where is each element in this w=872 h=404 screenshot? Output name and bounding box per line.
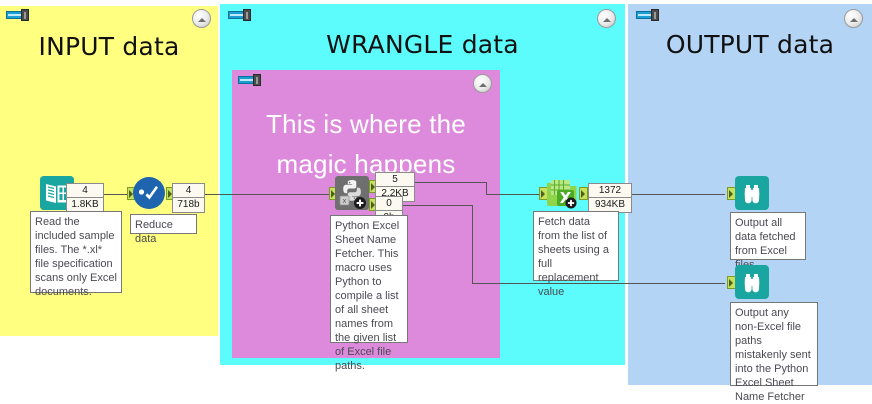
wire-excel-to-browse: [632, 194, 725, 195]
wire-python-top-h1: [415, 182, 486, 183]
comment-browse-all[interactable]: Output all data fetched from Excel files: [730, 212, 806, 260]
output-anchor[interactable]: [579, 187, 588, 200]
container-title-input: INPUT data: [0, 32, 218, 61]
toggle-icon[interactable]: [228, 9, 252, 21]
toggle-knob: [253, 74, 261, 86]
comment-input-data[interactable]: Read the included sample files. The *.xl…: [30, 211, 122, 293]
container-title-wrangle: WRANGLE data: [220, 30, 625, 59]
wire-python-bottom-h1: [403, 205, 472, 206]
record-badge-input-data: 4 1.8KB: [66, 183, 104, 213]
python-macro-icon[interactable]: x: [335, 176, 369, 210]
filter-check-icon[interactable]: [132, 176, 166, 210]
comment-browse-errors[interactable]: Output any non-Excel file paths mistaken…: [730, 302, 818, 386]
wire-python-bottom-v: [472, 205, 473, 283]
toggle-icon[interactable]: [238, 74, 262, 86]
record-badge-filter: 4 718b: [172, 183, 205, 213]
record-badge-dynamic-input: 1372 934KB: [588, 183, 632, 213]
excel-fetch-icon[interactable]: X: [545, 176, 579, 210]
container-title-output: OUTPUT data: [628, 30, 872, 59]
browse-binoculars-icon[interactable]: [735, 176, 769, 210]
chevron-up-icon[interactable]: [844, 9, 863, 28]
toggle-knob: [243, 9, 251, 21]
toggle-icon[interactable]: [636, 9, 660, 21]
chevron-up-icon[interactable]: [473, 74, 492, 93]
toggle-knob: [21, 9, 29, 21]
wire-python-top-h2: [486, 194, 545, 195]
comment-dynamic-input[interactable]: Fetch data from the list of sheets using…: [533, 211, 619, 281]
browse-binoculars-icon[interactable]: [735, 265, 769, 299]
wire-filter-to-python: [205, 194, 334, 195]
container-title-macro: This is where the magic happens: [232, 104, 500, 184]
comment-filter[interactable]: Reduce data: [130, 214, 197, 234]
toggle-knob: [651, 9, 659, 21]
chevron-up-icon[interactable]: [192, 9, 211, 28]
toggle-icon[interactable]: [6, 9, 30, 21]
workflow-canvas[interactable]: INPUT data WRANGLE data This is where th…: [0, 0, 872, 400]
comment-python-macro[interactable]: Python Excel Sheet Name Fetcher. This ma…: [330, 215, 408, 343]
chevron-up-icon[interactable]: [597, 9, 616, 28]
svg-text:x: x: [342, 197, 346, 205]
